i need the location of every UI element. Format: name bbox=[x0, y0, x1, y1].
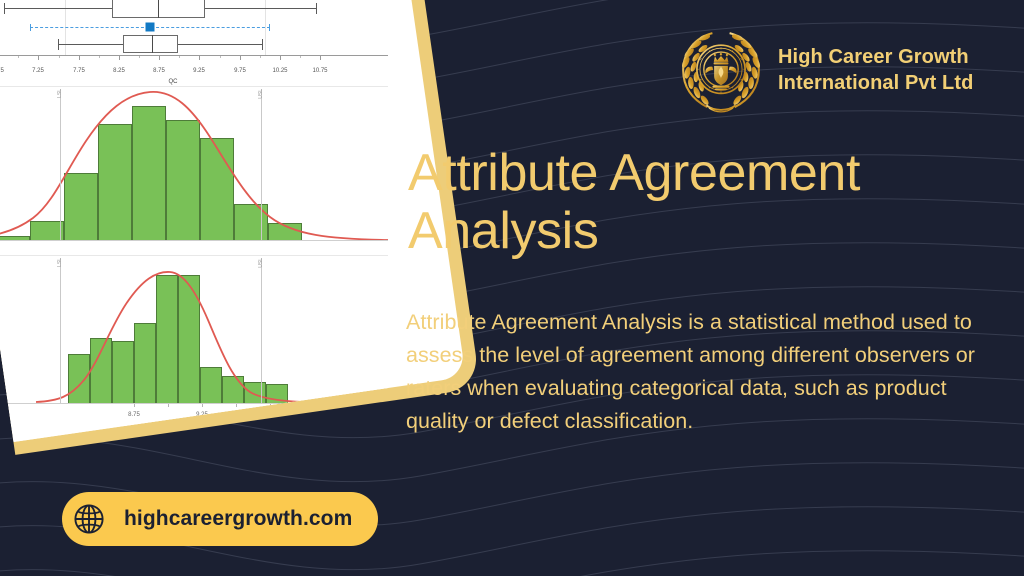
histogram-within: LSL USL 8.75 9.25 9.75 bbox=[0, 256, 388, 426]
boxplot-xtick-1: 7.25 bbox=[32, 68, 44, 74]
hist2-usl-label: USL bbox=[258, 258, 264, 268]
box-within bbox=[123, 35, 178, 53]
hist1-usl-line bbox=[261, 89, 262, 241]
ci-marker-within bbox=[146, 23, 155, 32]
hist2-usl-line bbox=[261, 258, 262, 404]
description-text: Attribute Agreement Analysis is a statis… bbox=[406, 306, 1010, 438]
hist2-xtick-2: 9.75 bbox=[264, 412, 276, 418]
boxplot-xtick-6: 9.75 bbox=[234, 68, 246, 74]
hist2-normal-curve bbox=[0, 256, 388, 404]
hist2-xtick-1: 9.25 bbox=[196, 412, 208, 418]
hist1-lsl-line bbox=[60, 89, 61, 241]
chart-stack: 6.75 7.25 7.75 8.25 8.75 9.25 9.75 10.25… bbox=[0, 0, 388, 442]
hist1-lsl-label: LSL bbox=[57, 89, 63, 98]
website-url-label: highcareergrowth.com bbox=[116, 507, 352, 531]
media-inner-white: 6.75 7.25 7.75 8.25 8.75 9.25 9.75 10.25… bbox=[0, 0, 466, 442]
hist1-usl-label: USL bbox=[258, 89, 264, 99]
hist2-lsl-line bbox=[60, 258, 61, 404]
boxplot-xtick-3: 8.25 bbox=[113, 68, 125, 74]
laurel-crest-icon bbox=[678, 28, 764, 114]
page-title-line-2: Analysis bbox=[408, 203, 968, 261]
globe-icon bbox=[62, 492, 116, 546]
boxplot-xtick-8: 10.75 bbox=[312, 68, 327, 74]
hist2-lsl-label: LSL bbox=[57, 258, 63, 267]
brand-logo: High Career Growth International Pvt Ltd bbox=[678, 28, 973, 114]
page-title-line-1: Attribute Agreement bbox=[408, 145, 968, 203]
boxplot-xtick-5: 9.25 bbox=[193, 68, 205, 74]
boxplot-panel: 6.75 7.25 7.75 8.25 8.75 9.25 9.75 10.25… bbox=[0, 0, 388, 86]
boxplot-xtick-4: 8.75 bbox=[153, 68, 165, 74]
hist1-normal-curve bbox=[0, 87, 388, 241]
histogram-overall: LSL USL bbox=[0, 87, 388, 255]
page-title: Attribute Agreement Analysis bbox=[408, 145, 968, 260]
poster-canvas: 6.75 7.25 7.75 8.25 8.75 9.25 9.75 10.25… bbox=[0, 0, 1024, 576]
hist2-xtick-0: 8.75 bbox=[128, 412, 140, 418]
website-badge[interactable]: highcareergrowth.com bbox=[62, 492, 378, 546]
logo-line-2: International Pvt Ltd bbox=[778, 71, 973, 97]
logo-wordmark: High Career Growth International Pvt Ltd bbox=[778, 45, 973, 96]
boxplot-xaxis-label: QC bbox=[169, 79, 178, 85]
boxplot-xtick-7: 10.25 bbox=[272, 68, 287, 74]
boxplot-xtick-2: 7.75 bbox=[73, 68, 85, 74]
logo-line-1: High Career Growth bbox=[778, 45, 973, 71]
boxplot-xtick-0: 6.75 bbox=[0, 68, 4, 74]
